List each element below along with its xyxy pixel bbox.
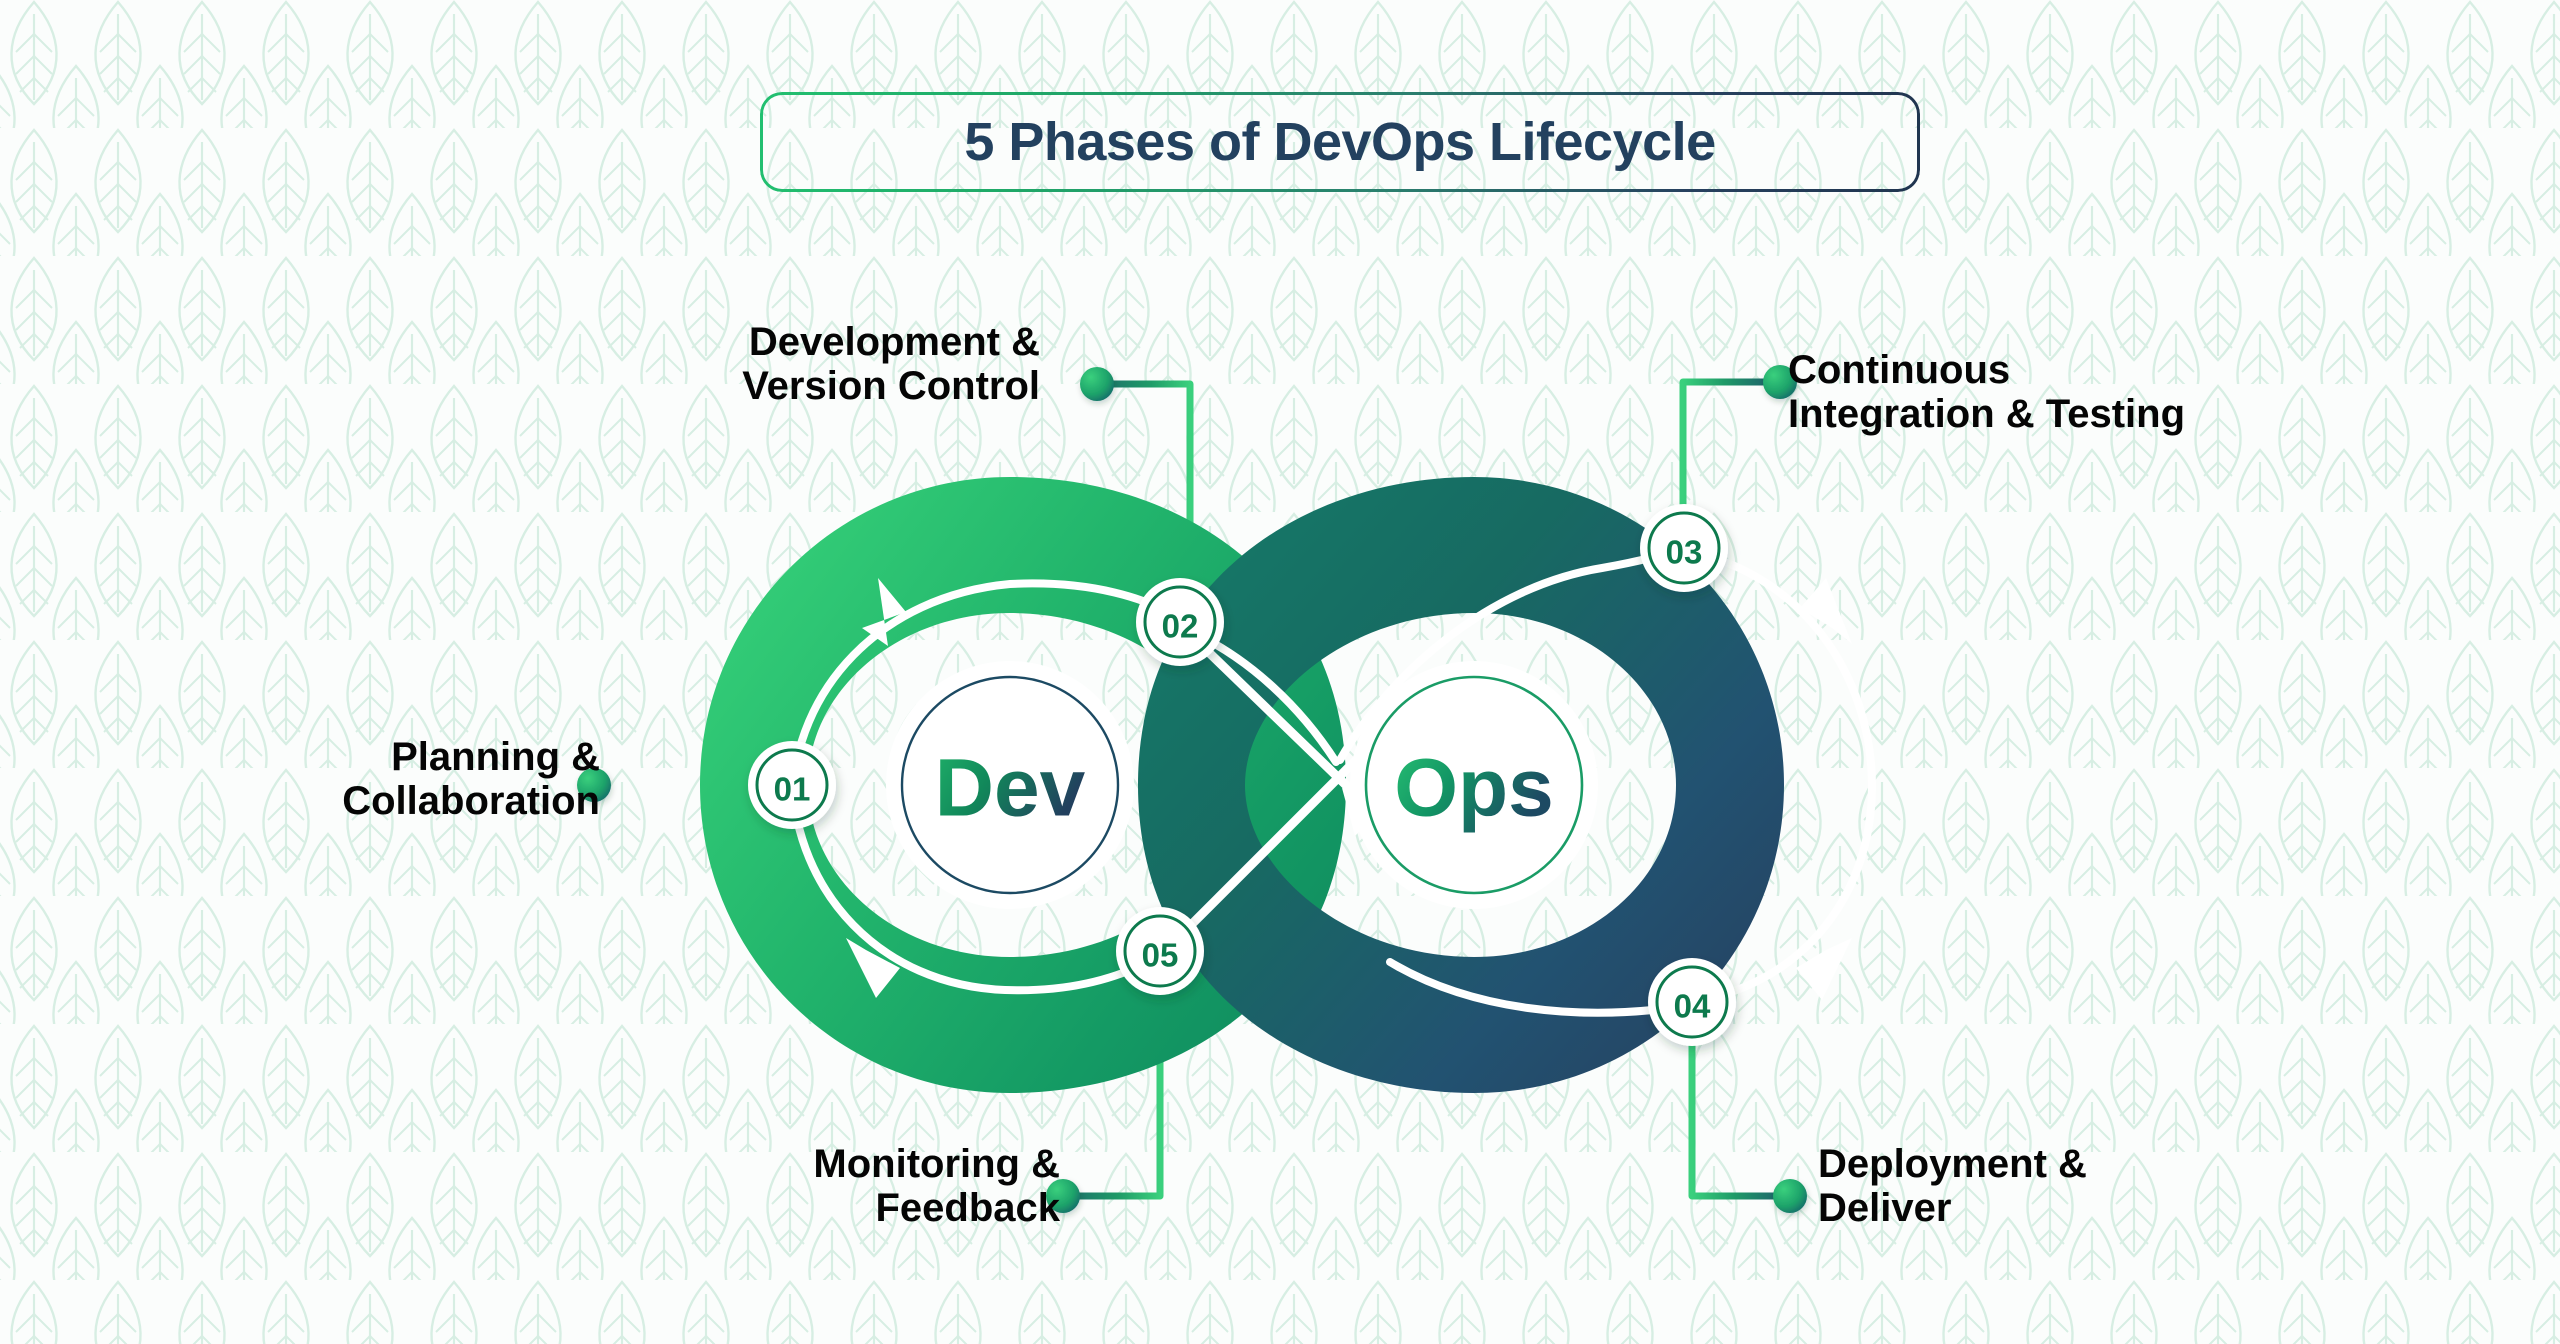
phase-badge-02-number: 02 — [1162, 608, 1199, 645]
title-banner: 5 Phases of DevOps Lifecycle — [760, 92, 1920, 192]
phase-label-monitoring: Monitoring & Feedback — [440, 1142, 1060, 1230]
phase-label-planning: Planning & Collaboration — [140, 735, 600, 823]
connector-dot-02 — [1080, 367, 1114, 401]
dev-word: Dev — [935, 743, 1086, 834]
phase-badge-01[interactable]: 01 — [748, 741, 836, 829]
phase-badge-03[interactable]: 03 — [1640, 504, 1728, 592]
phase-badge-04-number: 04 — [1674, 988, 1711, 1025]
phase-label-continuous-integration: Continuous Integration & Testing — [1788, 348, 2488, 436]
phase-badge-01-number: 01 — [774, 771, 811, 808]
phase-badge-04[interactable]: 04 — [1648, 958, 1736, 1046]
phase-label-development: Development & Version Control — [400, 320, 1040, 408]
page-title: 5 Phases of DevOps Lifecycle — [760, 92, 1920, 192]
dev-center-disc: Dev — [886, 661, 1134, 909]
ops-center-disc: Ops — [1350, 661, 1598, 909]
phase-badge-03-number: 03 — [1666, 534, 1703, 571]
phase-badge-05[interactable]: 05 — [1116, 907, 1204, 995]
ops-word: Ops — [1394, 743, 1553, 834]
phase-label-deployment: Deployment & Deliver — [1818, 1142, 2418, 1230]
phase-badge-05-number: 05 — [1142, 937, 1179, 974]
phase-badge-02[interactable]: 02 — [1136, 578, 1224, 666]
connector-dot-04 — [1773, 1179, 1807, 1213]
